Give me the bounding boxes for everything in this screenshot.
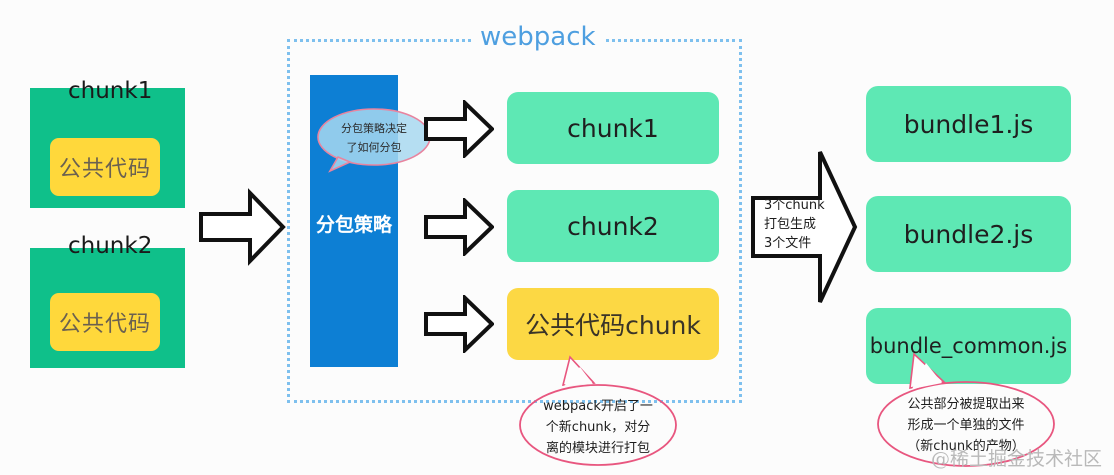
source-chunk-1-label: chunk1 <box>68 78 152 104</box>
output-card-chunk2: chunk2 <box>507 190 719 262</box>
source-chunk-1-common-code: 公共代码 <box>50 138 160 196</box>
arrow-strategy-to-chunk2 <box>424 198 494 256</box>
callout-extracted-common-line-1: 公共部分被提取出来 <box>866 394 1066 415</box>
strategy-bubble-line-2: 了如何分包 <box>316 139 432 156</box>
pack-arrow-text: 3个chunk 打包生成 3个文件 <box>764 196 825 253</box>
split-strategy-label: 分包策略 <box>310 210 398 237</box>
arrow-strategy-to-chunk1 <box>424 100 494 158</box>
strategy-speech-bubble: 分包策略决定 了如何分包 <box>316 107 432 173</box>
output-card-chunk1: chunk1 <box>507 92 719 164</box>
output-card-common-chunk: 公共代码chunk <box>507 288 719 360</box>
arrow-source-to-webpack <box>198 188 286 266</box>
source-chunk-2-common-code: 公共代码 <box>50 293 160 351</box>
watermark-label: @稀土掘金技术社区 <box>931 444 1102 471</box>
pack-arrow-line-2: 打包生成 <box>764 215 825 234</box>
callout-new-chunk-line-1: webpack开启了一 <box>508 396 688 417</box>
webpack-title-label: webpack <box>472 22 604 52</box>
callout-new-chunk: webpack开启了一 个新chunk，对分 离的模块进行打包 <box>508 355 688 467</box>
bundle-card-2: bundle2.js <box>866 196 1071 272</box>
source-chunk-2-label: chunk2 <box>68 233 152 259</box>
callout-extracted-common-line-2: 形成一个单独的文件 <box>866 415 1066 436</box>
arrow-strategy-to-common-chunk <box>424 295 494 353</box>
callout-new-chunk-line-3: 离的模块进行打包 <box>508 438 688 459</box>
strategy-bubble-line-1: 分包策略决定 <box>316 120 432 137</box>
callout-new-chunk-line-2: 个新chunk，对分 <box>508 417 688 438</box>
pack-arrow-line-3: 3个文件 <box>764 234 825 253</box>
bundle-card-1: bundle1.js <box>866 86 1071 162</box>
pack-arrow-line-1: 3个chunk <box>764 196 825 215</box>
diagram-canvas: chunk1 公共代码 chunk2 公共代码 webpack 分包策略 分包策… <box>0 0 1114 475</box>
